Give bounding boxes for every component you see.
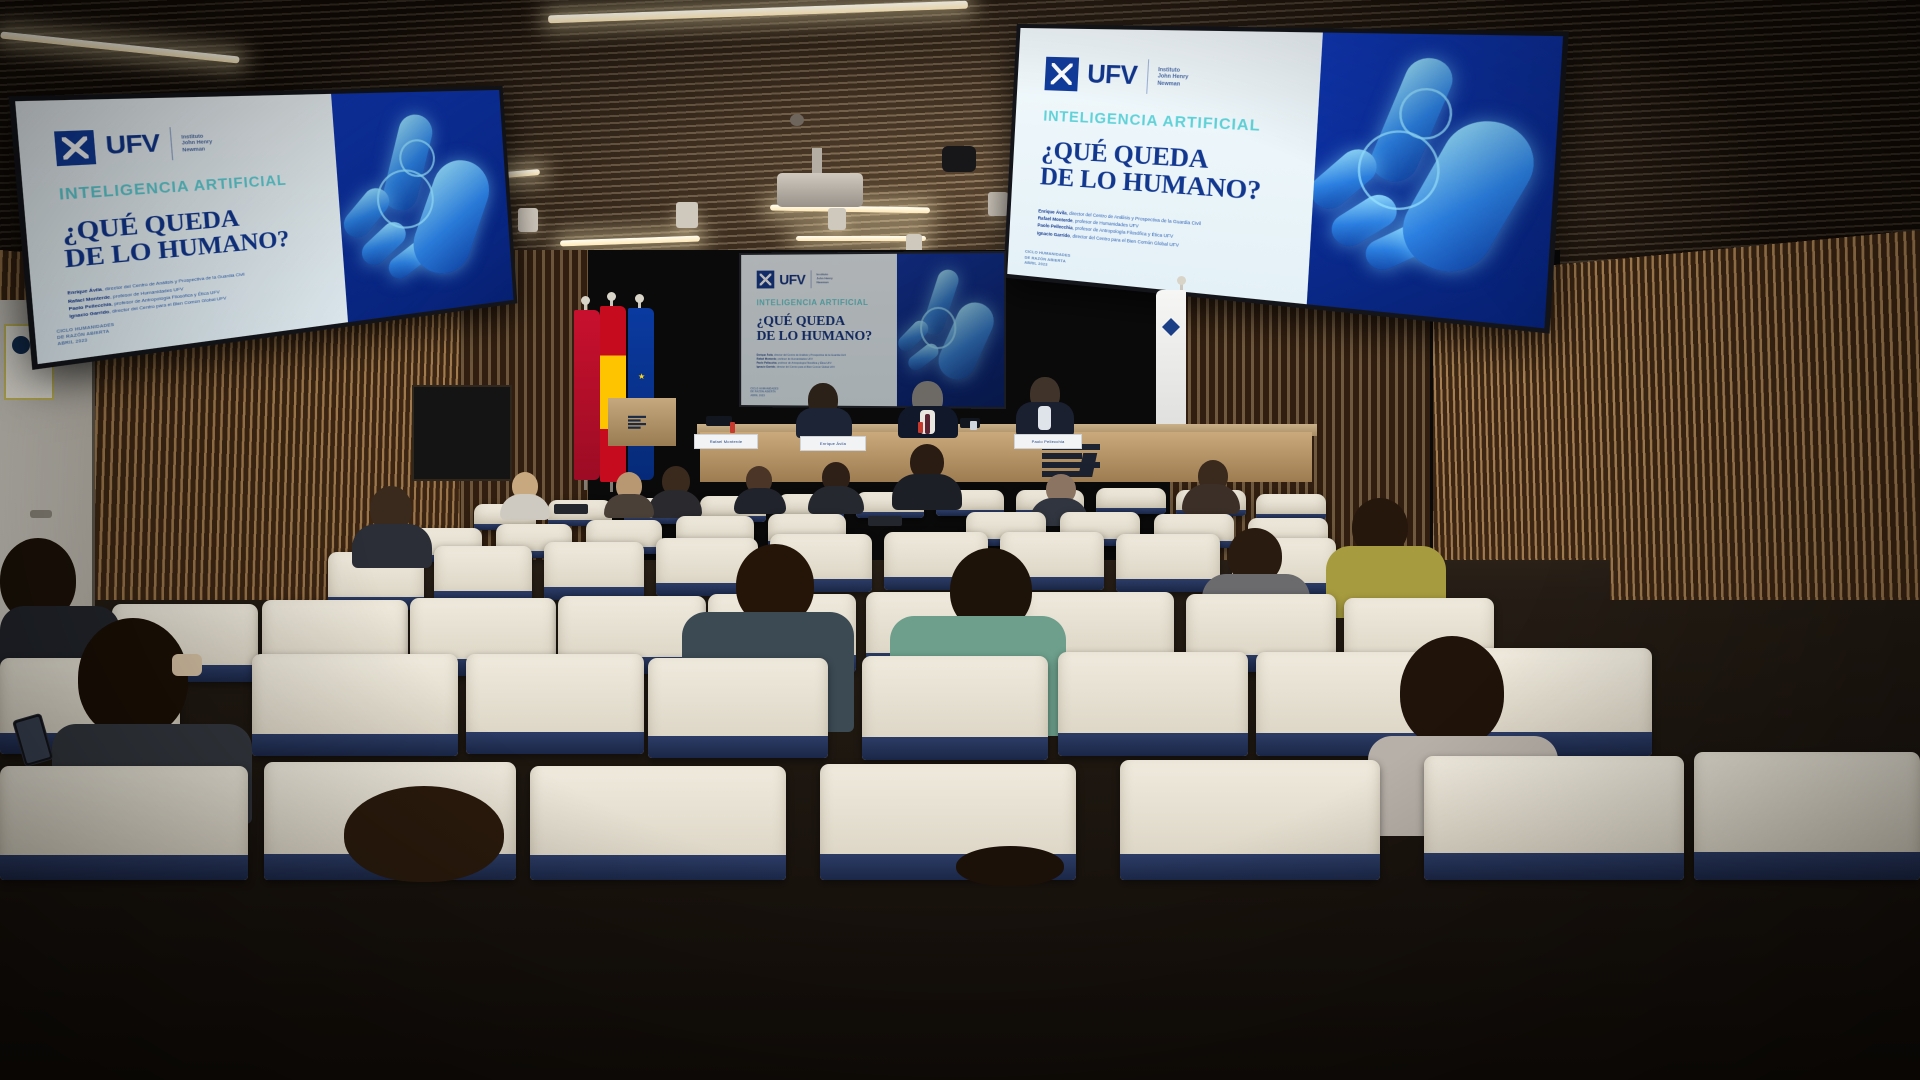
shirt bbox=[1038, 406, 1051, 430]
ufv-institute-name: Instituto John Henry Newman bbox=[816, 273, 832, 284]
slide-footer: CICLO HUMANIDADES DE RAZÓN ABIERTA ABRIL… bbox=[56, 322, 115, 348]
seat[interactable] bbox=[862, 656, 1048, 760]
ufv-logo: UFV Instituto John Henry Newman bbox=[54, 122, 313, 166]
ceiling-projector bbox=[777, 173, 863, 207]
slide-kicker: INTELIGENCIA ARTIFICIAL bbox=[58, 171, 315, 204]
down-light bbox=[518, 208, 538, 232]
ufv-institute-name: Instituto John Henry Newman bbox=[181, 132, 213, 153]
wall-mounted-panel bbox=[412, 385, 512, 481]
seat[interactable] bbox=[1096, 488, 1166, 514]
robotic-hand-illustration bbox=[1307, 38, 1563, 327]
flagpole-finial bbox=[635, 294, 644, 303]
flag-espana bbox=[600, 306, 626, 482]
slide-art-panel bbox=[331, 90, 513, 322]
door-handle[interactable] bbox=[30, 510, 52, 518]
ufv-diamond-icon bbox=[1045, 57, 1079, 91]
ufv-wordmark: UFV bbox=[1086, 62, 1137, 89]
seat[interactable] bbox=[434, 546, 532, 604]
eu-stars-icon: ★ bbox=[638, 372, 648, 382]
slide-footer: CICLO HUMANIDADES DE RAZÓN ABIERTA ABRIL… bbox=[1024, 248, 1071, 270]
seat[interactable] bbox=[648, 658, 828, 758]
seat[interactable] bbox=[1256, 494, 1326, 520]
ufv-institute-name: Instituto John Henry Newman bbox=[1157, 67, 1189, 89]
torso bbox=[796, 408, 852, 438]
robotic-hand-illustration bbox=[897, 256, 1004, 404]
robotic-hand-illustration bbox=[332, 93, 514, 317]
seat[interactable] bbox=[544, 542, 644, 600]
slide-text-panel: UFV Instituto John Henry Newman INTELIGE… bbox=[15, 94, 348, 364]
slide-headline-line2: DE LO HUMANO? bbox=[757, 330, 885, 345]
seat[interactable] bbox=[0, 766, 248, 880]
ufv-diamond-icon bbox=[757, 270, 775, 288]
eyeglasses-icon bbox=[172, 654, 202, 676]
necktie bbox=[925, 414, 930, 434]
projector-mount bbox=[812, 148, 822, 176]
slide-speaker-list: Enrique Ávila, director del Centro de An… bbox=[1037, 207, 1284, 258]
auditorium-photo: UFV Instituto John Henry Newman INTELIGE… bbox=[0, 0, 1920, 1080]
flagpole-finial bbox=[607, 292, 616, 301]
slide-right: UFV Instituto John Henry Newman INTELIGE… bbox=[1007, 28, 1563, 328]
lectern-logo-icon bbox=[626, 414, 648, 432]
ufv-logo: UFV Instituto John Henry Newman bbox=[757, 270, 885, 289]
down-light bbox=[828, 208, 846, 230]
laptop[interactable] bbox=[868, 516, 902, 526]
info-icon bbox=[12, 336, 30, 354]
slide-art-panel bbox=[897, 253, 1004, 407]
ufv-diamond-icon bbox=[54, 130, 97, 166]
seat[interactable] bbox=[530, 766, 786, 880]
slide-kicker: INTELIGENCIA ARTIFICIAL bbox=[757, 298, 885, 307]
list-item: Ignacio Garrido, director del Centro par… bbox=[757, 366, 885, 371]
water-glass bbox=[970, 421, 977, 430]
ufv-wordmark: UFV bbox=[105, 132, 161, 160]
seat[interactable] bbox=[466, 654, 644, 754]
ceiling-sensor-icon bbox=[790, 114, 804, 126]
main-projection-screen[interactable]: UFV Instituto John Henry Newman INTELIGE… bbox=[739, 251, 1006, 409]
flagpole-finial bbox=[581, 296, 590, 305]
slide-speaker-list: Enrique Ávila, director del Centro de An… bbox=[757, 353, 885, 370]
slide-text-panel: UFV Instituto John Henry Newman INTELIGE… bbox=[1007, 28, 1323, 304]
ufv-wordmark: UFV bbox=[779, 272, 805, 286]
logo-divider bbox=[1146, 60, 1149, 94]
seat[interactable] bbox=[1116, 534, 1220, 592]
flagpole-finial bbox=[1177, 276, 1186, 285]
water-bottle bbox=[730, 422, 735, 433]
slide-projected: UFV Instituto John Henry Newman INTELIGE… bbox=[741, 253, 1004, 407]
nameplate: Paolo Pellecchia bbox=[1014, 434, 1082, 449]
down-light bbox=[988, 192, 1008, 216]
down-light bbox=[676, 202, 698, 228]
ufv-logo: UFV Instituto John Henry Newman bbox=[1045, 57, 1294, 99]
seat[interactable] bbox=[1058, 652, 1248, 756]
flag-comunidad-madrid bbox=[574, 310, 600, 480]
ceiling-spotlight bbox=[942, 146, 976, 172]
laptop[interactable] bbox=[554, 504, 588, 514]
logo-divider bbox=[810, 270, 811, 288]
seat[interactable] bbox=[1694, 752, 1920, 880]
nameplate: Enrique Ávila bbox=[800, 436, 866, 451]
slide-kicker: INTELIGENCIA ARTIFICIAL bbox=[1043, 108, 1290, 136]
water-bottle bbox=[918, 422, 923, 433]
slide-speaker-list: Enrique Ávila, director del Centro de An… bbox=[67, 263, 323, 321]
seat[interactable] bbox=[1120, 760, 1380, 880]
seat[interactable] bbox=[252, 654, 458, 756]
slide-headline-line1: ¿QUÉ QUEDA bbox=[757, 315, 885, 330]
nameplate: Rafael Monterde bbox=[694, 434, 758, 449]
logo-divider bbox=[169, 127, 173, 160]
flag-union-europea bbox=[628, 308, 654, 480]
slide-art-panel bbox=[1307, 33, 1563, 329]
microphone-base bbox=[706, 416, 732, 426]
slide-footer: CICLO HUMANIDADES DE RAZÓN ABIERTA ABRIL… bbox=[750, 387, 778, 398]
seat[interactable] bbox=[1424, 756, 1684, 880]
